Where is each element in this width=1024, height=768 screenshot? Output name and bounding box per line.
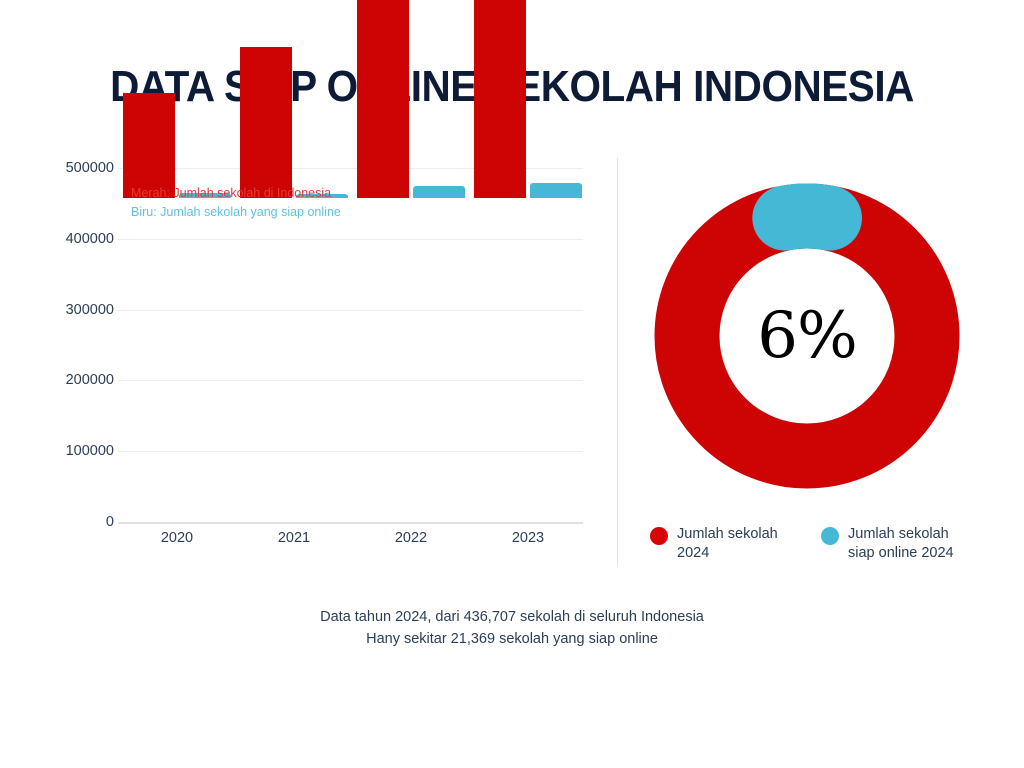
legend-entry-total: Jumlah sekolah 2024 bbox=[650, 525, 795, 563]
y-tick-label: 400000 bbox=[42, 231, 114, 247]
gridline bbox=[118, 310, 583, 311]
bar-2021-total bbox=[240, 47, 292, 199]
y-tick-label: 100000 bbox=[42, 443, 114, 459]
x-tick-label-2021: 2021 bbox=[240, 530, 348, 546]
blue-dot-icon bbox=[821, 527, 839, 545]
red-dot-icon bbox=[650, 527, 668, 545]
y-axis-labels: 0100000200000300000400000500000 bbox=[38, 150, 114, 570]
section-divider bbox=[617, 158, 618, 566]
bar-2022-online bbox=[413, 186, 465, 198]
bar-2022-total bbox=[357, 0, 409, 198]
bar-chart: 0100000200000300000400000500000 20202021… bbox=[0, 150, 610, 570]
donut-legend: Jumlah sekolah 2024Jumlah sekolah siap o… bbox=[650, 525, 990, 563]
gridline bbox=[118, 451, 583, 452]
bar-2023-online bbox=[530, 183, 582, 198]
legend-label: Jumlah sekolah 2024 bbox=[677, 525, 795, 563]
x-tick-label-2023: 2023 bbox=[474, 530, 582, 546]
donut-center-value: 6% bbox=[654, 183, 960, 489]
caption-line-1: Data tahun 2024, dari 436,707 sekolah di… bbox=[0, 606, 1024, 628]
caption: Data tahun 2024, dari 436,707 sekolah di… bbox=[0, 606, 1024, 650]
bar-2023-total bbox=[474, 0, 526, 198]
bar-2020-total bbox=[123, 93, 175, 198]
caption-line-2: Hany sekitar 21,369 sekolah yang siap on… bbox=[0, 628, 1024, 650]
y-tick-label: 0 bbox=[42, 514, 114, 530]
donut-chart: 6% bbox=[654, 183, 960, 489]
gridline bbox=[118, 380, 583, 381]
annotation-red-series: Merah: Jumlah sekolah di Indonesia bbox=[131, 184, 341, 203]
x-tick-label-2022: 2022 bbox=[357, 530, 465, 546]
y-tick-label: 300000 bbox=[42, 302, 114, 318]
y-tick-label: 200000 bbox=[42, 372, 114, 388]
y-tick-label: 500000 bbox=[42, 160, 114, 176]
axis-baseline bbox=[118, 522, 583, 524]
gridline bbox=[118, 239, 583, 240]
legend-label: Jumlah sekolah siap online 2024 bbox=[848, 525, 966, 563]
x-tick-label-2020: 2020 bbox=[123, 530, 231, 546]
legend-entry-online: Jumlah sekolah siap online 2024 bbox=[821, 525, 966, 563]
chart-annotations: Merah: Jumlah sekolah di Indonesia Biru:… bbox=[131, 184, 341, 222]
annotation-blue-series: Biru: Jumlah sekolah yang siap online bbox=[131, 203, 341, 222]
